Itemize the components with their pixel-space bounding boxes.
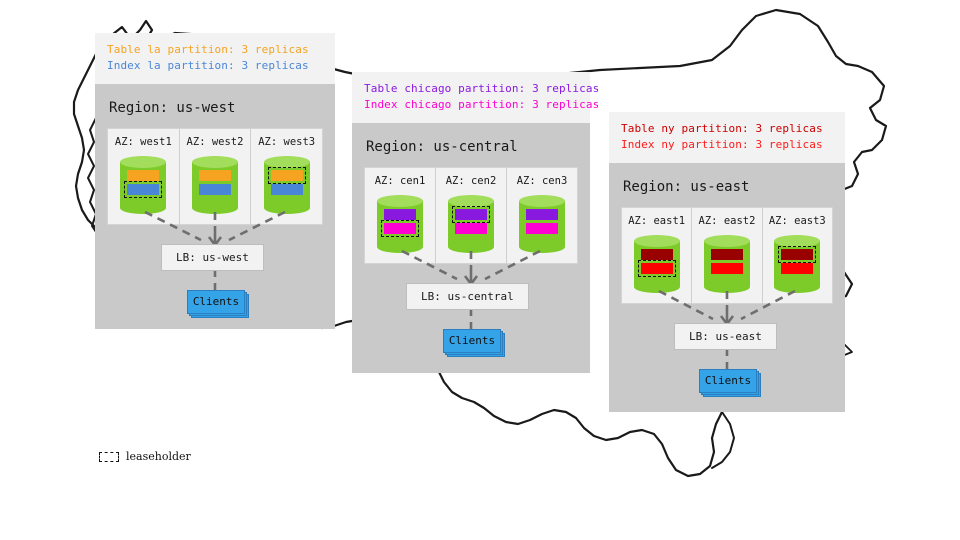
clients-label: Clients [705, 374, 751, 387]
db-node-cen2[interactable] [448, 195, 494, 253]
replica-bar-index[interactable] [455, 223, 487, 234]
cylinder-top [519, 195, 565, 207]
clients-card-front[interactable]: Clients [443, 329, 501, 353]
replica-bars [704, 249, 750, 274]
region-cluster-us-east: Table ny partition: 3 replicas Index ny … [609, 112, 845, 412]
clients-group-us-central[interactable]: Clients [443, 329, 505, 355]
replica-bar-index[interactable] [199, 184, 231, 195]
replica-bar-table[interactable] [711, 249, 743, 260]
clients-stack: Clients [443, 329, 505, 355]
clients-label: Clients [449, 334, 495, 347]
az-row-us-central: AZ: cen1 AZ: cen2 [364, 167, 578, 264]
az-label: AZ: east1 [628, 215, 685, 227]
region-title: Region: us-east [623, 179, 833, 195]
db-node-cen1[interactable] [377, 195, 423, 253]
partition-header-us-west: Table la partition: 3 replicas Index la … [95, 33, 335, 84]
replica-bars [448, 209, 494, 234]
region-title: Region: us-central [366, 139, 578, 155]
az-row-us-east: AZ: east1 AZ: east2 [621, 207, 833, 304]
clients-card-front[interactable]: Clients [187, 290, 245, 314]
lb-label: LB: us-west [176, 251, 249, 264]
clients-stack: Clients [187, 290, 249, 316]
az-cell-east2[interactable]: AZ: east2 [692, 208, 762, 303]
region-title: Region: us-west [109, 100, 323, 116]
replica-bars [264, 170, 310, 195]
az-cell-cen2[interactable]: AZ: cen2 [436, 168, 507, 263]
region-cluster-us-central: Table chicago partition: 3 replicas Inde… [352, 72, 590, 373]
replica-bars [377, 209, 423, 234]
replica-bar-table[interactable] [127, 170, 159, 181]
replica-bars [774, 249, 820, 274]
replica-bars [192, 170, 238, 195]
db-node-west3[interactable] [264, 156, 310, 214]
replica-bar-index[interactable] [711, 263, 743, 274]
legend: leaseholder [99, 450, 191, 463]
replica-bar-table[interactable] [526, 209, 558, 220]
az-label: AZ: cen2 [442, 175, 500, 187]
region-cluster-us-west: Table la partition: 3 replicas Index la … [95, 33, 335, 329]
partition-line-index: Index la partition: 3 replicas [107, 58, 323, 74]
cylinder-top [120, 156, 166, 168]
region-body-us-central: Region: us-central AZ: cen1 [352, 123, 590, 373]
db-node-west1[interactable] [120, 156, 166, 214]
load-balancer-us-central[interactable]: LB: us-central [406, 283, 529, 310]
partition-header-us-central: Table chicago partition: 3 replicas Inde… [352, 72, 590, 123]
az-label: AZ: cen3 [513, 175, 571, 187]
region-body-us-east: Region: us-east AZ: east1 A [609, 163, 845, 412]
az-row-us-west: AZ: west1 AZ: west2 [107, 128, 323, 225]
load-balancer-us-west[interactable]: LB: us-west [161, 244, 264, 271]
region-body-us-west: Region: us-west AZ: west1 A [95, 84, 335, 329]
az-label: AZ: west1 [114, 136, 173, 148]
db-node-east1[interactable] [634, 235, 680, 293]
cylinder-top [377, 195, 423, 207]
replica-bar-table[interactable] [641, 249, 673, 260]
replica-bars [120, 170, 166, 195]
az-label: AZ: east2 [698, 215, 755, 227]
replica-bars [634, 249, 680, 274]
cylinder-top [704, 235, 750, 247]
partition-line-table: Table la partition: 3 replicas [107, 42, 323, 58]
clients-card-front[interactable]: Clients [699, 369, 757, 393]
partition-line-index: Index chicago partition: 3 replicas [364, 97, 578, 113]
cylinder-top [634, 235, 680, 247]
cylinder-top [192, 156, 238, 168]
clients-label: Clients [193, 295, 239, 308]
db-node-east3[interactable] [774, 235, 820, 293]
replica-bar-table[interactable] [199, 170, 231, 181]
partition-line-index: Index ny partition: 3 replicas [621, 137, 833, 153]
az-label: AZ: cen1 [371, 175, 429, 187]
az-cell-east1[interactable]: AZ: east1 [622, 208, 692, 303]
clients-group-us-west[interactable]: Clients [187, 290, 249, 316]
replica-bar-table[interactable] [455, 209, 487, 220]
az-cell-cen3[interactable]: AZ: cen3 [507, 168, 577, 263]
replica-bar-table[interactable] [384, 209, 416, 220]
replica-bar-table[interactable] [271, 170, 303, 181]
load-balancer-us-east[interactable]: LB: us-east [674, 323, 777, 350]
partition-header-us-east: Table ny partition: 3 replicas Index ny … [609, 112, 845, 163]
az-cell-east3[interactable]: AZ: east3 [763, 208, 832, 303]
az-label: AZ: west3 [257, 136, 316, 148]
legend-label: leaseholder [126, 450, 191, 463]
db-node-east2[interactable] [704, 235, 750, 293]
db-node-west2[interactable] [192, 156, 238, 214]
replica-bar-index[interactable] [526, 223, 558, 234]
diagram-canvas: Table la partition: 3 replicas Index la … [0, 0, 960, 540]
lb-label: LB: us-central [421, 290, 514, 303]
clients-group-us-east[interactable]: Clients [699, 369, 761, 395]
az-cell-cen1[interactable]: AZ: cen1 [365, 168, 436, 263]
az-cell-west1[interactable]: AZ: west1 [108, 129, 180, 224]
partition-line-table: Table ny partition: 3 replicas [621, 121, 833, 137]
replica-bars [519, 209, 565, 234]
leaseholder-swatch-icon [99, 452, 119, 462]
replica-bar-index[interactable] [127, 184, 159, 195]
az-label: AZ: east3 [769, 215, 826, 227]
az-cell-west3[interactable]: AZ: west3 [251, 129, 322, 224]
replica-bar-index[interactable] [641, 263, 673, 274]
db-node-cen3[interactable] [519, 195, 565, 253]
az-label: AZ: west2 [186, 136, 245, 148]
replica-bar-index[interactable] [781, 263, 813, 274]
partition-line-table: Table chicago partition: 3 replicas [364, 81, 578, 97]
replica-bar-table[interactable] [781, 249, 813, 260]
clients-stack: Clients [699, 369, 761, 395]
replica-bar-index[interactable] [384, 223, 416, 234]
az-cell-west2[interactable]: AZ: west2 [180, 129, 252, 224]
replica-bar-index[interactable] [271, 184, 303, 195]
lb-label: LB: us-east [689, 330, 762, 343]
